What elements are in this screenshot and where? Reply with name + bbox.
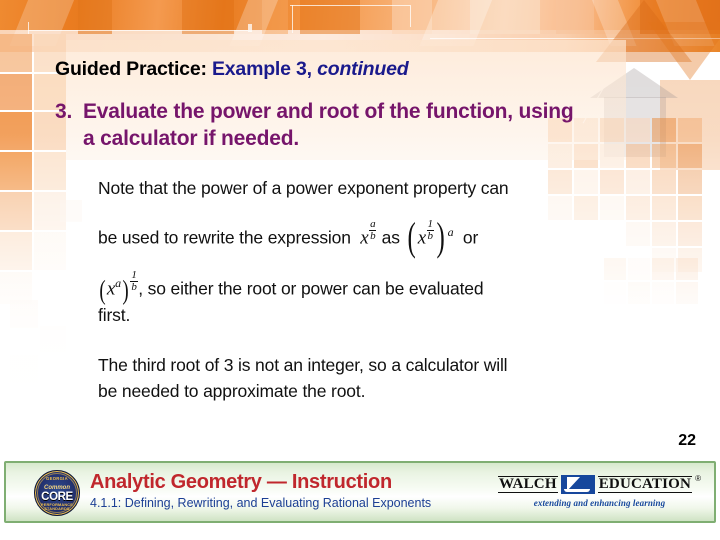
common-core-seal-icon: GEORGIA Common CORE PERFORMANCE STANDARD…	[34, 470, 80, 516]
footer-title: Analytic Geometry — Instruction	[90, 471, 392, 494]
seal-main-text: CORE	[35, 491, 79, 503]
walch-tagline: extending and enhancing learning	[507, 498, 692, 508]
math-fraction-exponent: 1b	[427, 219, 434, 242]
footer-bar: GEORGIA Common CORE PERFORMANCE STANDARD…	[4, 461, 716, 523]
note-paragraph-line2: be used to rewrite the expression xab as…	[98, 225, 708, 253]
conclusion-line1: The third root of 3 is not an integer, s…	[98, 353, 698, 378]
fraction-denominator: b	[369, 230, 376, 242]
math-base: x	[418, 228, 426, 249]
title-emphasis: continued	[317, 58, 408, 80]
math-base: x	[107, 279, 115, 300]
math-fraction-exponent: 1b	[130, 270, 137, 293]
or-connector: or	[463, 228, 478, 248]
math-inner-exponent: a	[115, 271, 121, 296]
seal-top-text: GEORGIA	[35, 476, 79, 481]
note-paragraph-line3: (xa)1b , so either the root or power can…	[98, 276, 698, 304]
slide: Guided Practice: Example 3, continued 3.…	[0, 0, 720, 540]
fraction-numerator: 1	[427, 219, 434, 230]
walch-wordmark-left: WALCH	[498, 476, 558, 493]
fraction-denominator: b	[130, 281, 137, 293]
math-base: x	[360, 228, 368, 249]
fraction-numerator: 1	[130, 270, 137, 281]
note-paragraph-line1: Note that the power of a power exponent …	[98, 176, 698, 201]
content-stage: Guided Practice: Example 3, continued 3.…	[0, 0, 720, 540]
expression-trailer: , so either the root or power can be eva…	[138, 279, 483, 299]
expression-lead-in: be used to rewrite the expression	[98, 228, 351, 248]
seal-bottom-text: PERFORMANCE STANDARDS	[35, 503, 79, 511]
math-expression-3: (xa)1b	[98, 276, 138, 304]
hull-shape	[564, 489, 590, 492]
title-main: Example 3,	[212, 58, 312, 80]
title-prefix: Guided Practice:	[55, 58, 207, 80]
math-fraction-exponent: ab	[369, 219, 376, 242]
as-connector: as	[382, 228, 400, 248]
step-text: Evaluate the power and root of the funct…	[83, 98, 583, 152]
footer-subtitle: 4.1.1: Defining, Rewriting, and Evaluati…	[90, 496, 431, 510]
registered-mark: ®	[695, 474, 701, 483]
step-number: 3.	[55, 98, 83, 125]
sailboat-icon	[561, 475, 595, 494]
step-heading: 3.Evaluate the power and root of the fun…	[55, 98, 615, 152]
math-expression-1: xab	[356, 225, 377, 251]
fraction-denominator: b	[427, 230, 434, 242]
walch-wordmark-right: EDUCATION	[598, 476, 692, 493]
note-paragraph-line4: first.	[98, 303, 698, 328]
page-title: Guided Practice: Example 3, continued	[55, 58, 408, 81]
math-outer-exponent: a	[448, 220, 454, 245]
math-expression-2: (x1b)a	[405, 225, 454, 253]
walch-education-logo: WALCH EDUCATION ® extending and enhancin…	[507, 475, 692, 508]
fraction-numerator: a	[369, 219, 376, 230]
conclusion-line2: be needed to approximate the root.	[98, 379, 698, 404]
page-number: 22	[678, 432, 696, 450]
